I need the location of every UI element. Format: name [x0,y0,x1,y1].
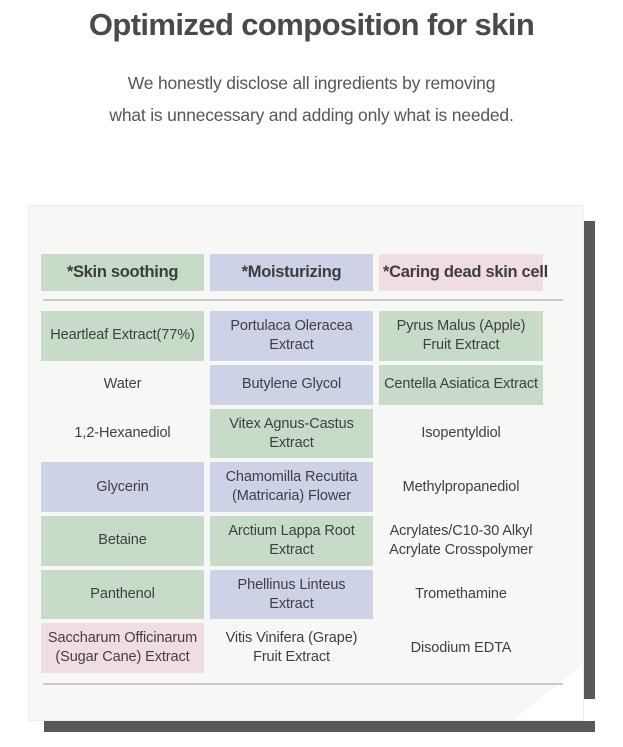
subtitle-line-1: We honestly disclose all ingredients by … [0,67,623,99]
page-subtitle: We honestly disclose all ingredients by … [0,67,623,132]
table-cell: Heartleaf Extract(77%) [41,311,204,361]
ingredient-card: *Skin soothing *Moisturizing *Caring dea… [28,205,584,721]
column-header-caring-dead-skin-cell: *Caring dead skin cell [379,254,543,291]
table-cell: Betaine [41,516,204,566]
column-header-skin-soothing: *Skin soothing [41,254,204,291]
ingredient-card-wrapper: *Skin soothing *Moisturizing *Caring dea… [28,205,595,732]
table-cell: Pyrus Malus (Apple) Fruit Extract [379,311,543,361]
heading-block: Optimized composition for skin We honest… [0,0,623,132]
table-row: Heartleaf Extract(77%) Portulaca Olerace… [41,311,573,361]
table-cell: Centella Asiatica Extract [379,365,543,405]
table-cell: Isopentyldiol [379,409,543,459]
card-shadow-bottom [44,721,595,732]
table-footer-divider [43,683,563,685]
table-cell: Vitis Vinifera (Grape) Fruit Extract [210,623,373,673]
table-row: Water Butylene Glycol Centella Asiatica … [41,365,573,405]
card-shadow-right [584,221,595,699]
table-cell: 1,2-Hexanediol [41,409,204,459]
table-cell: Disodium EDTA [379,623,543,673]
table-cell: Butylene Glycol [210,365,373,405]
table-cell: Phellinus Linteus Extract [210,570,373,620]
table-cell: Water [41,365,204,405]
table-cell: Panthenol [41,570,204,620]
header-divider [43,299,563,301]
table-row: Panthenol Phellinus Linteus Extract Trom… [41,570,573,620]
table-body: Heartleaf Extract(77%) Portulaca Olerace… [41,311,573,673]
page-title: Optimized composition for skin [0,6,623,45]
table-cell: Vitex Agnus-Castus Extract [210,409,373,459]
table-row: Betaine Arctium Lappa Root Extract Acryl… [41,516,573,566]
table-cell: Tromethamine [379,570,543,620]
table-row: Saccharum Officinarum (Sugar Cane) Extra… [41,623,573,673]
table-cell: Glycerin [41,462,204,512]
table-cell: Arctium Lappa Root Extract [210,516,373,566]
table-row: 1,2-Hexanediol Vitex Agnus-Castus Extrac… [41,409,573,459]
table-cell: Acrylates/C10-30 Alkyl Acrylate Crosspol… [379,516,543,566]
ingredient-table: *Skin soothing *Moisturizing *Caring dea… [41,254,573,685]
table-row: Glycerin Chamomilla Recutita (Matricaria… [41,462,573,512]
subtitle-line-2: what is unnecessary and adding only what… [0,99,623,131]
table-cell: Portulaca Oleracea Extract [210,311,373,361]
table-cell: Saccharum Officinarum (Sugar Cane) Extra… [41,623,204,673]
column-header-moisturizing: *Moisturizing [210,254,373,291]
page-root: Optimized composition for skin We honest… [0,0,623,747]
table-cell: Methylpropanediol [379,462,543,512]
table-header-row: *Skin soothing *Moisturizing *Caring dea… [41,254,573,291]
table-cell: Chamomilla Recutita (Matricaria) Flower [210,462,373,512]
